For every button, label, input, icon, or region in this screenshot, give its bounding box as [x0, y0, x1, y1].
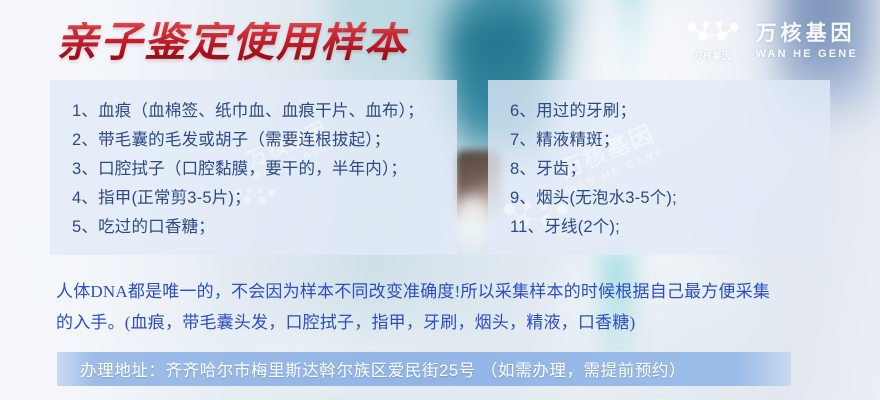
- list-item: 1、血痕（血棉签、纸巾血、血痕干片、血布）；: [72, 97, 457, 126]
- note-line-1: 人体DNA都是唯一的，不会因为样本不同改变准确度!所以采集样本的时候根据自己最方…: [56, 276, 846, 307]
- logo-mark-label: 万核基因: [694, 49, 732, 62]
- address-bar: 办理地址：齐齐哈尔市梅里斯达斡尔族区爱民街25号 （如需办理，需提前预约）: [57, 352, 791, 386]
- sample-panel-right: 万核基因 WAN HE GENE 6、: [488, 80, 830, 255]
- list-item: 5、吃过的口香糖；: [72, 213, 457, 242]
- list-item: 2、带毛囊的毛发或胡子（需要连根拔起）；: [72, 126, 457, 155]
- list-item: 4、指甲(正常剪3-5片)；: [72, 184, 457, 213]
- sample-list-left: 1、血痕（血棉签、纸巾血、血痕干片、血布）； 2、带毛囊的毛发或胡子（需要连根拔…: [50, 80, 457, 242]
- list-item: 7、精液精斑；: [510, 126, 830, 155]
- sample-list-right: 6、用过的牙刷； 7、精液精斑； 8、牙齿； 9、烟头(无泡水3-5个); 11…: [488, 80, 830, 242]
- list-item: 8、牙齿；: [510, 155, 830, 184]
- molecule-network-icon: [686, 20, 740, 46]
- logo-name-en: WAN HE GENE: [756, 48, 858, 60]
- address-text: 办理地址：齐齐哈尔市梅里斯达斡尔族区爱民街25号 （如需办理，需提前预约）: [57, 357, 686, 381]
- logo-mark: 万核基因: [686, 20, 740, 62]
- poster-canvas: 亲子鉴定使用样本: [0, 0, 880, 400]
- sample-panel-left: 万核基因 WAN HE GENE 1、血痕（血棉签、纸巾血、血痕干片、血布）； …: [50, 80, 457, 255]
- list-item: 9、烟头(无泡水3-5个);: [510, 184, 830, 213]
- list-item: 6、用过的牙刷；: [510, 97, 830, 126]
- logo-name-cn: 万核基因: [756, 22, 858, 45]
- page-title: 亲子鉴定使用样本: [56, 22, 408, 64]
- list-item: 11、牙线(2个);: [510, 213, 830, 242]
- note-line-2: 的入手。(血痕，带毛囊头发，口腔拭子，指甲，牙刷，烟头，精液，口香糖): [56, 307, 846, 338]
- logo-wordmark: 万核基因 WAN HE GENE: [756, 22, 858, 59]
- brand-logo: 万核基因 万核基因 WAN HE GENE: [686, 20, 858, 62]
- note-paragraph: 人体DNA都是唯一的，不会因为样本不同改变准确度!所以采集样本的时候根据自己最方…: [56, 276, 846, 338]
- list-item: 3、口腔拭子（口腔黏膜，要干的，半年内）；: [72, 155, 457, 184]
